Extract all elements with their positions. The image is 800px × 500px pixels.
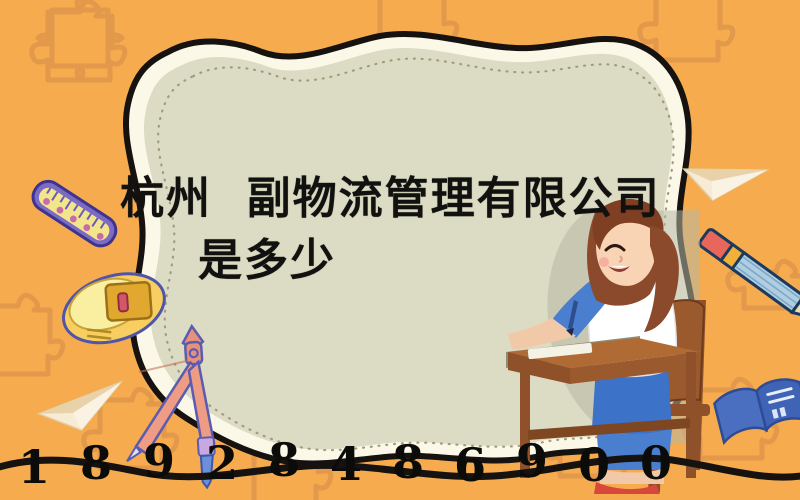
poster-artwork [0, 0, 800, 500]
poster-canvas: 杭州 副物流管理有限公司 是多少 1 8 9 2 8 4 8 6 9 0 0 [0, 0, 800, 500]
